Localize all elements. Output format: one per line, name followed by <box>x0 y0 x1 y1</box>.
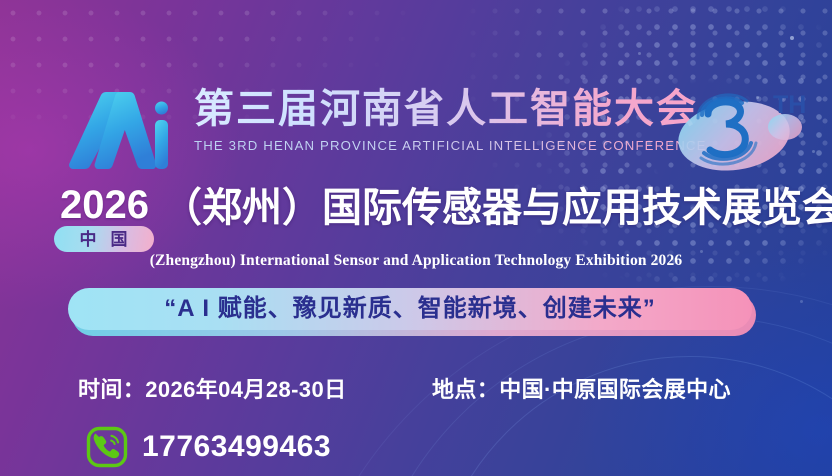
country-badge: 中 国 <box>54 226 154 252</box>
ai-logo-mark <box>62 86 174 172</box>
edition-suffix: TH <box>773 91 806 119</box>
main-headline-row: 2026 中 国 （郑州）国际传感器与应用技术展览会 <box>52 186 832 248</box>
exhibition-title-en: (Zhengzhou) International Sensor and App… <box>0 252 832 270</box>
conference-title-en: THE 3RD HENAN PROVINCE ARTIFICIAL INTELL… <box>194 138 754 154</box>
country-badge-char-2: 国 <box>111 231 129 248</box>
slogan-banner: “A I 赋能、豫见新质、智能新境、创建未来” <box>68 288 756 334</box>
event-time-value: 2026年04月28-30日 <box>145 377 346 402</box>
exhibition-title-cn: （郑州）国际传感器与应用技术展览会 <box>162 185 832 231</box>
event-place-label: 地点： <box>432 377 499 402</box>
event-place: 地点：中国·中原国际会展中心 <box>432 372 731 404</box>
phone-call-icon <box>86 426 128 468</box>
year-block: 2026 中 国 <box>52 186 162 248</box>
event-place-value: 中国·中原国际会展中心 <box>499 377 731 402</box>
conference-title-cn: 第三届河南省人工智能大会 <box>194 84 754 134</box>
phone-number[interactable]: 17763499463 <box>142 432 331 462</box>
year-label: 2026 <box>52 186 162 224</box>
edition-badge-3th: TH <box>672 80 822 180</box>
event-info-row: 时间：2026年04月28-30日 地点：中国·中原国际会展中心 <box>0 372 832 404</box>
conference-titles: 第三届河南省人工智能大会 THE 3RD HENAN PROVINCE ARTI… <box>194 84 754 154</box>
country-badge-char-1: 中 <box>80 231 98 248</box>
conference-header: 第三届河南省人工智能大会 THE 3RD HENAN PROVINCE ARTI… <box>62 84 822 176</box>
event-time: 时间：2026年04月28-30日 <box>78 372 346 404</box>
event-time-label: 时间： <box>78 377 145 402</box>
exhibition-poster: 第三届河南省人工智能大会 THE 3RD HENAN PROVINCE ARTI… <box>0 0 832 476</box>
contact-phone-row[interactable]: 17763499463 <box>86 425 331 469</box>
slogan-pill: “A I 赋能、豫见新质、智能新境、创建未来” <box>68 288 752 330</box>
slogan-text: “A I 赋能、豫见新质、智能新境、创建未来” <box>164 297 655 321</box>
